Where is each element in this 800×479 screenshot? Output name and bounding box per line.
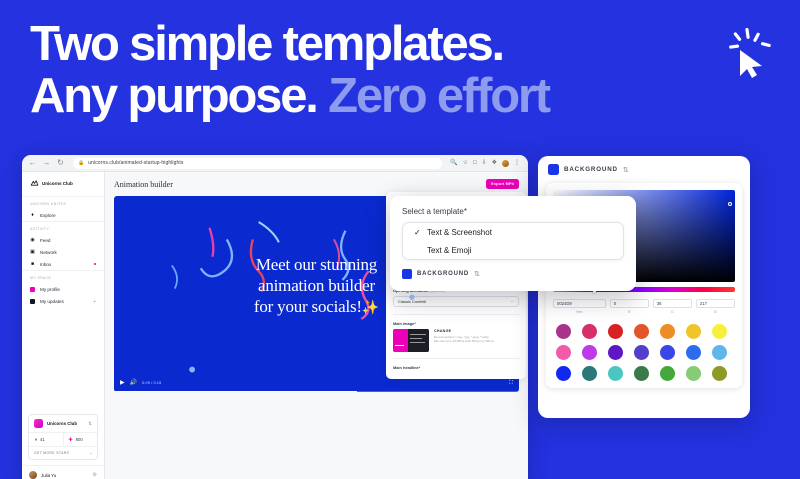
palette-swatch-5[interactable] — [686, 324, 701, 339]
play-icon[interactable]: ▶ — [120, 380, 125, 386]
sidebar-item-explore[interactable]: ♦ Explore — [22, 209, 104, 221]
palette-swatch-1[interactable] — [582, 324, 597, 339]
tab-icon[interactable]: □ — [473, 160, 477, 166]
palette-swatch-18[interactable] — [660, 366, 675, 381]
chevron-updown-icon[interactable]: ⇅ — [88, 421, 92, 427]
dropdown-option-text-screenshot[interactable]: ✓ Text & Screenshot — [403, 223, 623, 241]
palette-swatch-15[interactable] — [582, 366, 597, 381]
back-arrow-icon[interactable]: ← — [28, 159, 37, 167]
get-more-stars-label: GET MORE STARS — [34, 451, 69, 455]
hero-headline: Two simple templates. Any purpose. Zero … — [30, 18, 730, 122]
dropdown-option-label: Text & Emoji — [427, 246, 471, 255]
sidebar-section-label: Unicorn Unites — [22, 196, 104, 209]
network-icon: ▣ — [30, 250, 35, 255]
color-value-inputs: 0024D9 Hex 0 R 36 G 217 B — [553, 299, 735, 314]
sidebar-item-label: Inbox — [40, 262, 51, 267]
r-caption: R — [610, 310, 649, 314]
club-logo-icon — [34, 419, 43, 428]
palette-swatch-6[interactable] — [712, 324, 727, 339]
club-stat-moon: ◑ 41 — [29, 433, 63, 446]
video-line-3: for your socials! — [254, 297, 362, 316]
color-picker-header: BACKGROUND ⇅ — [546, 164, 742, 175]
g-input[interactable]: 36 — [653, 299, 692, 308]
sidebar-item-inbox[interactable]: ■ Inbox — [22, 258, 104, 270]
inbox-unread-badge — [94, 263, 97, 266]
palette-swatch-13[interactable] — [712, 345, 727, 360]
chevron-updown-icon[interactable]: ⇅ — [474, 270, 480, 278]
sidebar-spacer — [22, 308, 104, 414]
club-stat-star: ✚ 800 — [63, 433, 98, 446]
sidebar-item-label: Network — [40, 250, 57, 255]
club-card: Unicorns Club ⇅ ◑ 41 ✚ 800 GET MORE STAR… — [28, 414, 98, 460]
background-swatch[interactable] — [548, 164, 559, 175]
menu-icon[interactable]: ⋮ — [514, 160, 520, 166]
dropdown-label: Select a template* — [402, 207, 624, 216]
lock-icon: 🔒 — [78, 160, 84, 166]
sidebar-item-label: Explore — [40, 213, 56, 218]
palette-swatch-7[interactable] — [556, 345, 571, 360]
palette-swatch-2[interactable] — [608, 324, 623, 339]
hero-line-2-dim: Zero effort — [328, 69, 549, 123]
user-name: Julia Yu — [41, 473, 56, 478]
fullscreen-icon[interactable]: ⛶ — [509, 380, 513, 387]
volume-icon[interactable]: 🔊 — [130, 380, 137, 386]
toolbar-icon-group: 🔍 ☆ □ ⇩ ❖ ⋮ — [450, 160, 522, 167]
hex-input-group: 0024D9 Hex — [553, 299, 606, 314]
b-caption: B — [696, 310, 735, 314]
club-stats: ◑ 41 ✚ 800 — [29, 433, 97, 447]
export-mp4-button[interactable]: Export MP4 — [486, 179, 519, 189]
sidebar-item-label: My updates — [40, 299, 64, 304]
sidebar-user-row[interactable]: Julia Yu ⚙ — [22, 465, 104, 479]
dropdown-option-text-emoji[interactable]: Text & Emoji — [403, 241, 623, 259]
chevron-updown-icon[interactable]: ⇅ — [623, 166, 629, 174]
sidebar-item-label: Feed — [40, 238, 50, 243]
video-line-3-row: for your socials!✨ — [114, 296, 519, 319]
palette-swatch-0[interactable] — [556, 324, 571, 339]
dropdown-background-row[interactable]: BACKGROUND ⇅ — [402, 269, 624, 279]
user-avatar — [29, 471, 37, 479]
updates-square-icon — [30, 299, 35, 304]
club-card-header[interactable]: Unicorns Club ⇅ — [29, 415, 97, 433]
palette-swatch-17[interactable] — [634, 366, 649, 381]
app-sidebar: Unicorns Club Unicorn Unites ♦ Explore A… — [22, 172, 105, 479]
moon-icon: ◑ — [34, 437, 37, 443]
search-icon[interactable]: 🔍 — [450, 160, 457, 166]
hex-caption: Hex — [553, 310, 606, 314]
profile-square-icon — [30, 287, 35, 292]
b-input[interactable]: 217 — [696, 299, 735, 308]
sparkle-icon: ✨ — [362, 301, 379, 316]
sidebar-item-feed[interactable]: ◉ Feed — [22, 234, 104, 246]
sidebar-brand-label: Unicorns Club — [42, 181, 73, 186]
browser-toolbar: ← → ↻ 🔒 unicorns.club/animated-startup-h… — [22, 155, 528, 172]
sidebar-section-label: My space — [22, 270, 104, 283]
hero-line-2-strong: Any purpose. — [30, 69, 328, 123]
page-title: Animation builder — [114, 180, 173, 189]
video-controls: ▶ 🔊 0:09 / 0:15 ⛶ — [114, 374, 519, 392]
palette-swatch-12[interactable] — [686, 345, 701, 360]
hex-input[interactable]: 0024D9 — [553, 299, 606, 308]
palette-swatch-19[interactable] — [686, 366, 701, 381]
club-name: Unicorns Club — [47, 421, 77, 426]
chevron-right-icon: › — [90, 451, 92, 456]
b-input-group: 217 B — [696, 299, 735, 314]
palette-swatch-14[interactable] — [556, 366, 571, 381]
background-swatch[interactable] — [402, 269, 412, 279]
sidebar-item-label: My profile — [40, 287, 60, 292]
palette-swatch-10[interactable] — [634, 345, 649, 360]
forward-arrow-icon[interactable]: → — [42, 159, 51, 167]
background-label: BACKGROUND — [417, 271, 469, 277]
club-stat-value: 800 — [76, 437, 83, 442]
sidebar-item-network[interactable]: ▣ Network — [22, 246, 104, 258]
profile-avatar[interactable] — [502, 160, 509, 167]
sidebar-brand[interactable]: Unicorns Club — [22, 179, 104, 196]
app-header: Animation builder Export MP4 — [114, 179, 519, 189]
star-icon[interactable]: ☆ — [463, 160, 468, 166]
url-text: unicorns.club/animated-startup-highlight… — [88, 160, 183, 166]
dropdown-option-list: ✓ Text & Screenshot Text & Emoji — [402, 222, 624, 260]
feed-icon: ◉ — [30, 238, 35, 243]
g-caption: G — [653, 310, 692, 314]
add-update-icon[interactable]: + — [93, 299, 96, 305]
unicorn-logo-icon — [30, 179, 39, 188]
inbox-icon: ■ — [30, 262, 35, 267]
template-dropdown-popover: Select a template* ✓ Text & Screenshot T… — [390, 196, 636, 291]
get-more-stars-button[interactable]: GET MORE STARS › — [29, 447, 97, 459]
reload-icon[interactable]: ↻ — [56, 159, 65, 167]
compass-icon: ♦ — [30, 213, 35, 218]
extensions-icon[interactable]: ❖ — [492, 160, 497, 166]
palette-swatch-11[interactable] — [660, 345, 675, 360]
palette-swatch-8[interactable] — [582, 345, 597, 360]
palette-swatch-9[interactable] — [608, 345, 623, 360]
saturation-handle[interactable] — [728, 202, 732, 206]
palette-swatch-16[interactable] — [608, 366, 623, 381]
club-stat-value: 41 — [40, 437, 45, 442]
color-palette-grid — [553, 324, 735, 381]
hero-line-1: Two simple templates. — [30, 18, 730, 70]
check-icon: ✓ — [414, 228, 421, 237]
download-icon[interactable]: ⇩ — [482, 160, 487, 166]
palette-swatch-3[interactable] — [634, 324, 649, 339]
hero-line-2: Any purpose. Zero effort — [30, 70, 730, 122]
sidebar-section-label: Activity — [22, 221, 104, 234]
r-input[interactable]: 0 — [610, 299, 649, 308]
gear-icon[interactable]: ⚙ — [93, 472, 97, 478]
sidebar-item-my-updates[interactable]: My updates + — [22, 295, 104, 308]
video-timestamp: 0:09 / 0:15 — [142, 381, 161, 385]
address-bar[interactable]: 🔒 unicorns.club/animated-startup-highlig… — [73, 158, 442, 169]
color-picker-title: BACKGROUND — [564, 166, 618, 173]
palette-swatch-20[interactable] — [712, 366, 727, 381]
sidebar-item-my-profile[interactable]: My profile — [22, 283, 104, 295]
g-input-group: 36 G — [653, 299, 692, 314]
dropdown-option-label: Text & Screenshot — [427, 228, 492, 237]
click-cursor-icon — [722, 26, 778, 82]
star-icon: ✚ — [69, 437, 73, 443]
r-input-group: 0 R — [610, 299, 649, 314]
palette-swatch-4[interactable] — [660, 324, 675, 339]
